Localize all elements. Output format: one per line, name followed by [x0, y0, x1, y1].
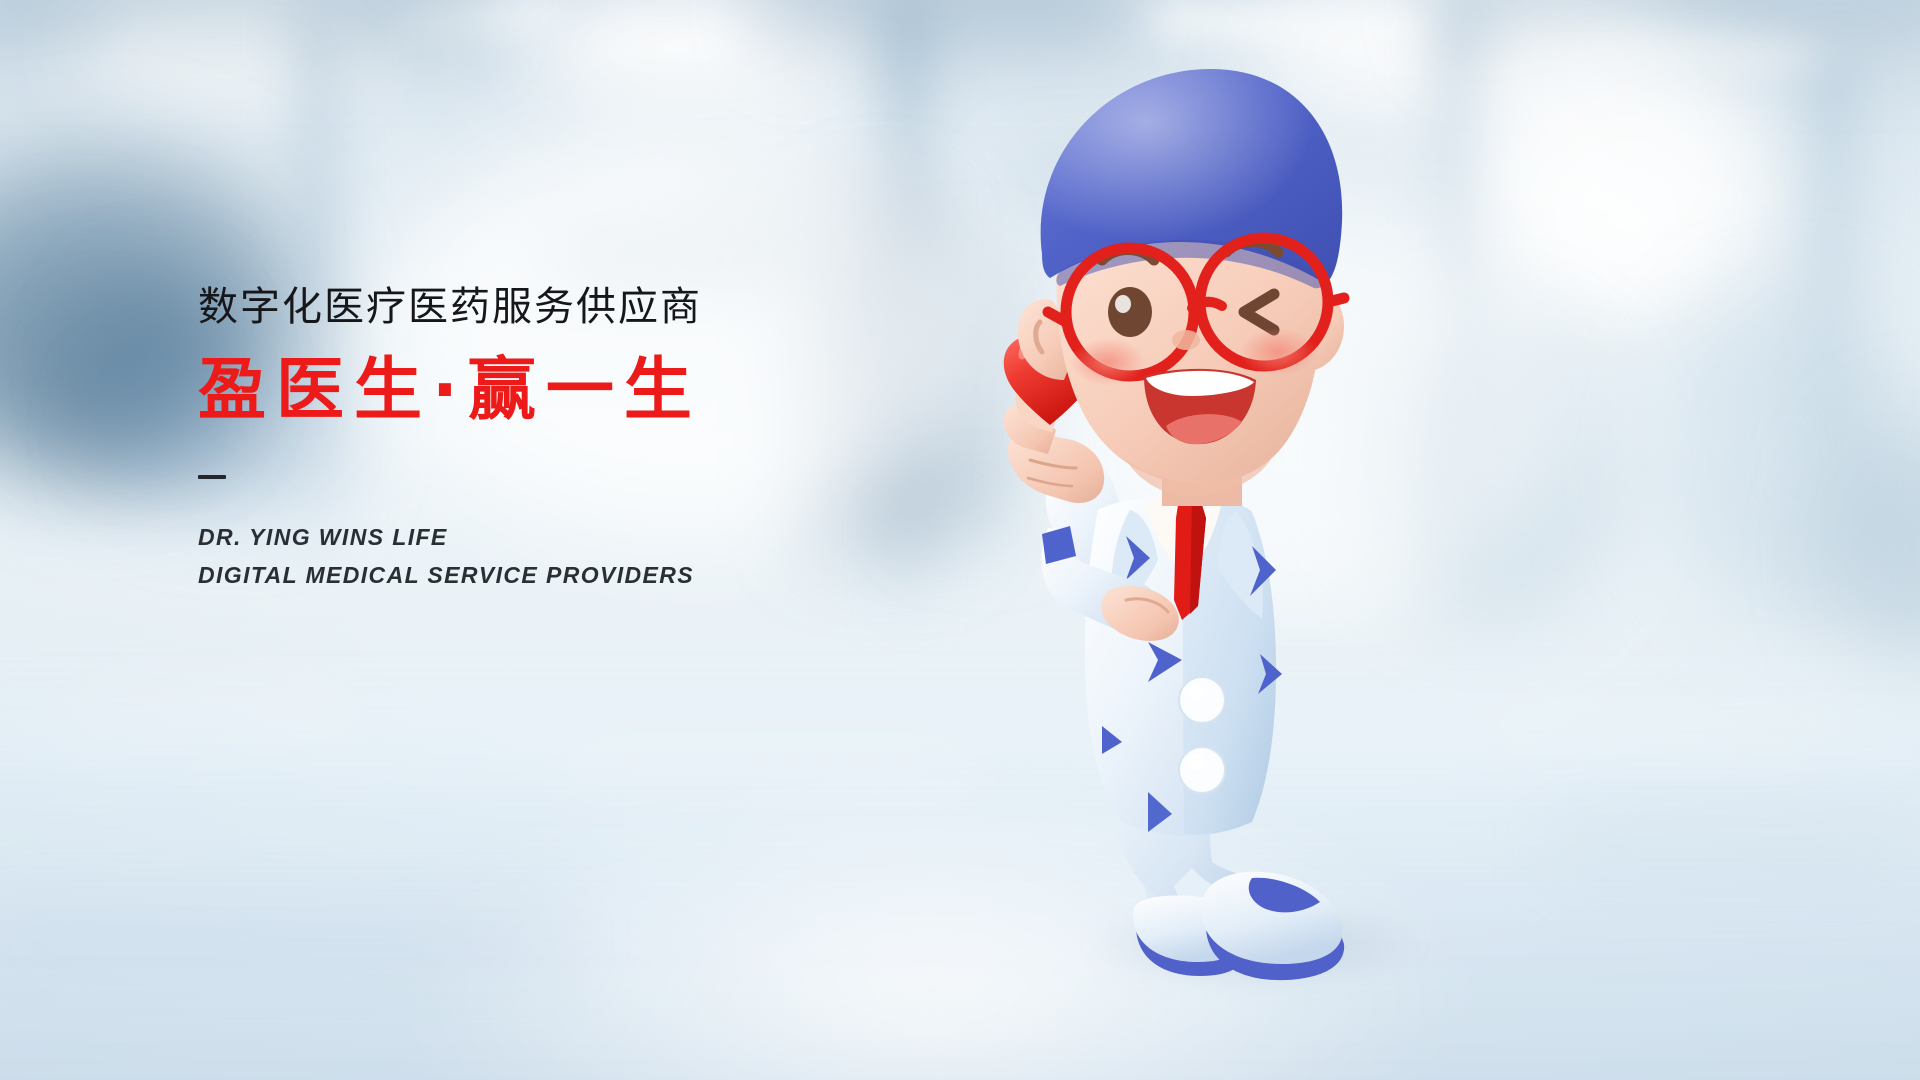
kicker-text: 数字化医疗医药服务供应商	[198, 284, 958, 331]
english-subtitle: DR. YING WINS LIFE DIGITAL MEDICAL SERVI…	[198, 519, 958, 594]
hero-banner: 数字化医疗医药服务供应商 盈医生·赢一生 DR. YING WINS LIFE …	[0, 0, 1920, 1080]
head	[1018, 69, 1344, 496]
floor-reflection	[60, 700, 360, 716]
nose	[1172, 330, 1200, 350]
ceiling-structure	[0, 0, 480, 70]
floor-reflection	[1480, 720, 1860, 736]
lab-coat	[1085, 492, 1282, 836]
page-title: 盈医生·赢一生	[198, 353, 958, 429]
floor-reflection	[560, 760, 980, 778]
blush	[1070, 338, 1146, 386]
doctor-character-illustration	[930, 40, 1470, 1030]
open-eye	[1108, 287, 1152, 337]
english-subtitle-line-2: DIGITAL MEDICAL SERVICE PROVIDERS	[198, 557, 958, 594]
floor-reflection	[0, 930, 560, 956]
background-window	[1530, 120, 1730, 300]
blush	[1240, 328, 1316, 376]
divider-rule	[198, 475, 226, 479]
english-subtitle-line-1: DR. YING WINS LIFE	[198, 519, 958, 556]
hero-copy: 数字化医疗医药服务供应商 盈医生·赢一生 DR. YING WINS LIFE …	[198, 284, 958, 594]
floor-reflection	[1560, 840, 1890, 862]
